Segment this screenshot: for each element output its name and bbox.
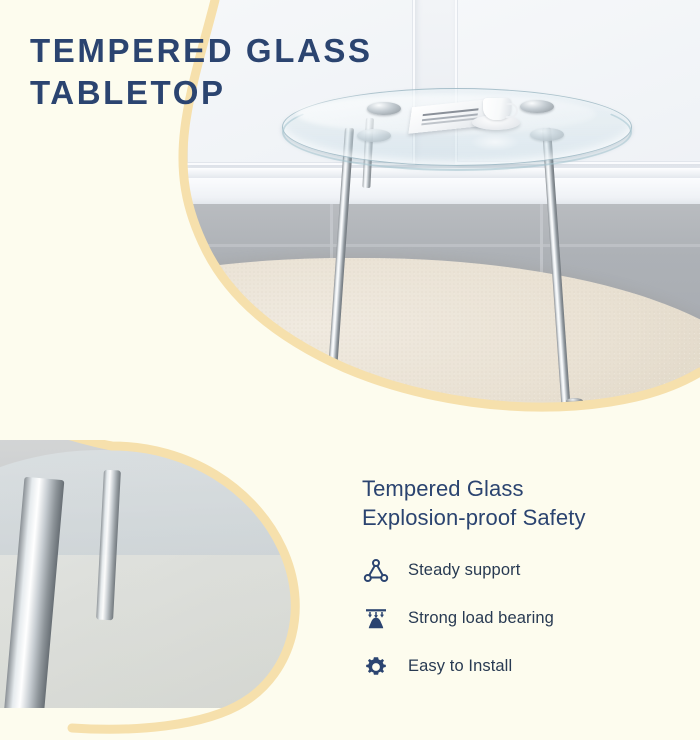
table-leg bbox=[325, 128, 354, 408]
gear-icon bbox=[362, 653, 390, 681]
coffee-cup bbox=[483, 98, 511, 120]
cup-reflection bbox=[470, 133, 520, 151]
feature-item-load-bearing: Strong load bearing bbox=[362, 605, 692, 633]
marketing-banner: TEMPERED GLASS TABLETOP bbox=[0, 0, 700, 700]
feature-label: Strong load bearing bbox=[408, 609, 554, 628]
leg-cap bbox=[520, 100, 554, 113]
leg-foot bbox=[566, 398, 583, 404]
inset-scene bbox=[0, 440, 322, 708]
headline-line-2: TABLETOP bbox=[30, 74, 226, 111]
feature-item-steady-support: Steady support bbox=[362, 557, 692, 585]
triangle-nodes-icon bbox=[362, 557, 390, 585]
feature-label: Easy to Install bbox=[408, 657, 512, 676]
headline-line-1: TEMPERED GLASS bbox=[30, 32, 373, 69]
load-bearing-icon bbox=[362, 605, 390, 633]
features-subheading: Tempered Glass Explosion-proof Safety bbox=[362, 474, 692, 533]
inset-photo bbox=[0, 440, 322, 708]
table-leg bbox=[542, 128, 570, 406]
page-title: TEMPERED GLASS TABLETOP bbox=[30, 30, 460, 113]
features-panel: Tempered Glass Explosion-proof Safety St… bbox=[362, 474, 692, 701]
feature-label: Steady support bbox=[408, 561, 520, 580]
feature-item-easy-install: Easy to Install bbox=[362, 653, 692, 681]
inset-photo-container bbox=[0, 440, 322, 708]
leg-foot bbox=[358, 400, 375, 406]
